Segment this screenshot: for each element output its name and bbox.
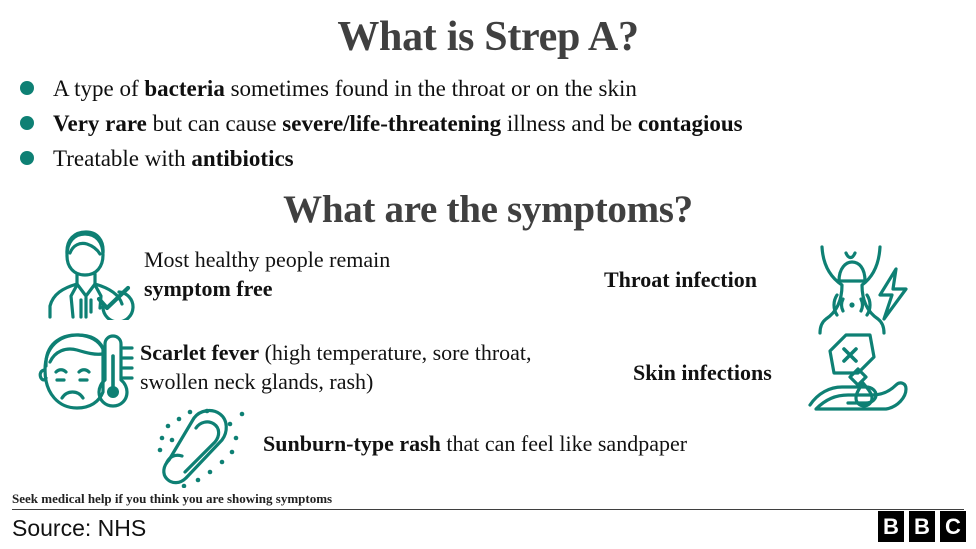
text-bold: contagious — [638, 111, 743, 136]
text-plain: illness and be — [501, 111, 638, 136]
bullet-dot-icon — [20, 81, 34, 95]
sad-face-thermometer-icon — [33, 330, 137, 412]
bullet-dot-icon — [20, 116, 34, 130]
bottle-drip-hand-icon — [808, 333, 908, 411]
rash-arm-icon — [152, 406, 254, 488]
list-item: Very rare but can cause severe/life-thre… — [20, 107, 970, 142]
text-bold: Very rare — [53, 111, 147, 136]
text-plain: that can feel like sandpaper — [441, 431, 687, 456]
text-bold: Sunburn-type rash — [263, 431, 441, 456]
bbc-logo-letter: B — [878, 511, 904, 542]
symptom-healthy-text: Most healthy people remain symptom free — [144, 245, 544, 303]
bbc-logo-letter: B — [909, 511, 935, 542]
text-plain: A type of — [53, 76, 144, 101]
page-title: What is Strep A? — [0, 12, 976, 62]
symptom-healthy-line-1: Most healthy people remain — [144, 245, 544, 274]
list-item-text: Very rare but can cause severe/life-thre… — [53, 107, 743, 140]
list-item-text: Treatable with antibiotics — [53, 142, 294, 175]
bbc-logo-letter: C — [940, 511, 966, 542]
footer-advice-note: Seek medical help if you think you are s… — [12, 490, 332, 507]
person-with-check-icon — [33, 228, 141, 320]
text-bold: bacteria — [144, 76, 224, 101]
list-item-text: A type of bacteria sometimes found in th… — [53, 72, 637, 105]
symptom-throat-label: Throat infection — [604, 265, 757, 294]
throat-lightning-icon — [812, 243, 912, 336]
text-plain: sometimes found in the throat or on the … — [225, 76, 637, 101]
text-plain: but can cause — [147, 111, 282, 136]
text-bold: antibiotics — [191, 146, 293, 171]
list-item: Treatable with antibiotics — [20, 142, 970, 177]
source-label: Source: NHS — [12, 513, 146, 543]
text-bold: severe/life-threatening — [282, 111, 501, 136]
key-facts-list: A type of bacteria sometimes found in th… — [20, 72, 970, 177]
footer-divider — [12, 509, 964, 510]
strep-a-infographic: What is Strep A? A type of bacteria some… — [0, 0, 976, 549]
symptom-scarlet-fever-text: Scarlet fever (high temperature, sore th… — [140, 338, 590, 396]
text-plain: Treatable with — [53, 146, 191, 171]
list-item: A type of bacteria sometimes found in th… — [20, 72, 970, 107]
text-bold: Scarlet fever — [140, 340, 259, 365]
bullet-dot-icon — [20, 151, 34, 165]
symptoms-section-title: What are the symptoms? — [0, 186, 976, 234]
symptom-sunburn-rash-text: Sunburn-type rash that can feel like san… — [263, 429, 843, 458]
bbc-logo: B B C — [878, 511, 966, 542]
symptom-skin-label: Skin infections — [633, 358, 772, 387]
symptom-healthy-line-2: symptom free — [144, 274, 544, 303]
